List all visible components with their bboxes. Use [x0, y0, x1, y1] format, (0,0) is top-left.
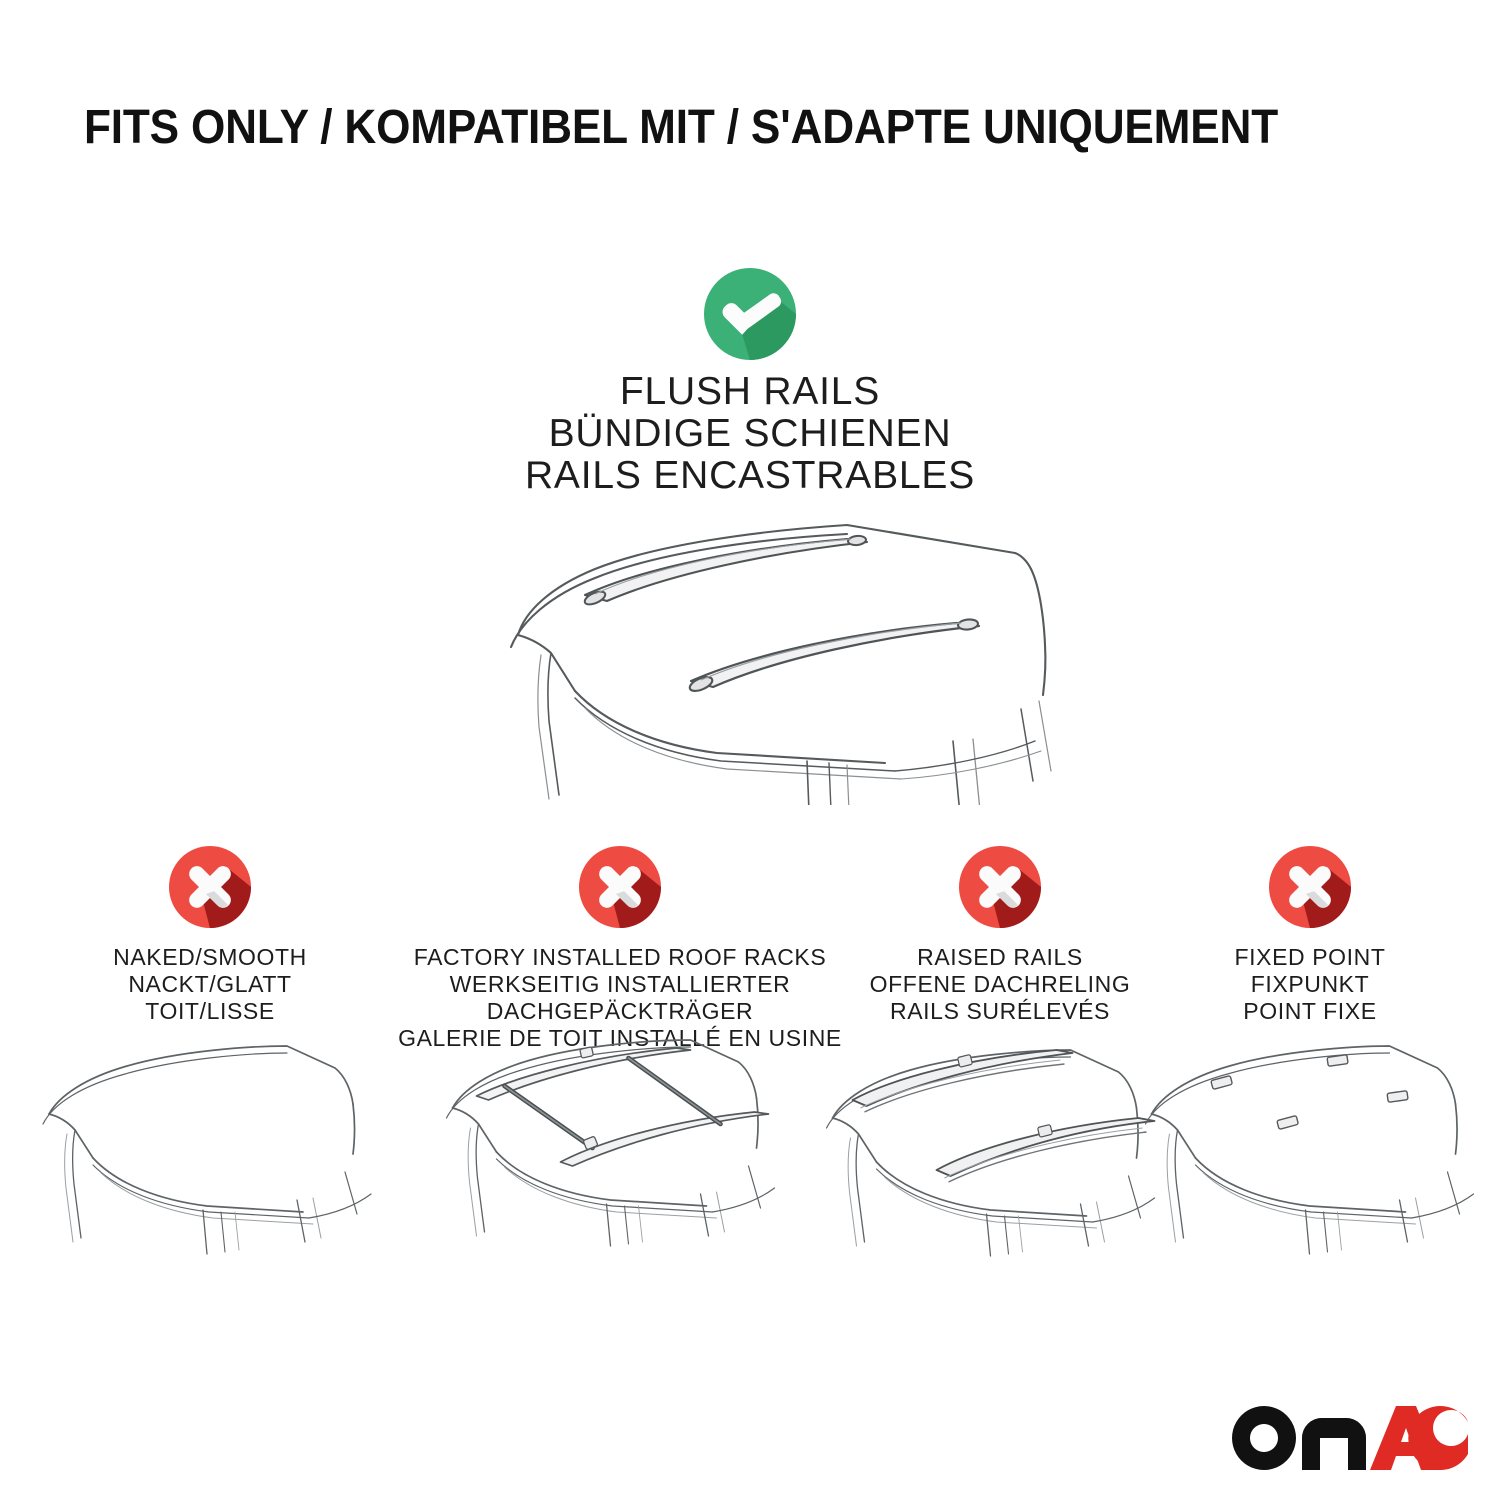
option-label-line-en: RAISED RAILS — [855, 944, 1145, 971]
compatible-option: FLUSH RAILS BÜNDIGE SCHIENEN RAILS ENCAS… — [250, 268, 1250, 497]
option-label-line-de: OFFENE DACHRELING — [855, 971, 1145, 998]
flush-rails-roof-diagram — [455, 495, 1055, 805]
flush-rail-near — [688, 618, 979, 693]
factory-roof-rack-diagram — [433, 1032, 808, 1247]
option-label: NAKED/SMOOTH NACKT/GLATT TOIT/LISSE — [40, 944, 380, 1025]
compatible-heading-line-fr: RAILS ENCASTRABLES — [250, 455, 1250, 497]
option-label-line-en: FACTORY INSTALLED ROOF RACKS — [390, 944, 850, 971]
option-label-line-fr: TOIT/LISSE — [40, 998, 380, 1025]
option-label: FIXED POINT FIXPUNKT POINT FIXE — [1160, 944, 1460, 1025]
fixed-point-roof-diagram — [1138, 1042, 1483, 1257]
raised-rail-far — [853, 1050, 1073, 1112]
incompatible-option-raised-rails: RAISED RAILS OFFENE DACHRELING RAILS SUR… — [855, 846, 1145, 1025]
x-circle-icon — [959, 846, 1041, 928]
compatible-heading-line-de: BÜNDIGE SCHIENEN — [250, 413, 1250, 455]
option-label-line-en: FIXED POINT — [1160, 944, 1460, 971]
raised-rail-near — [937, 1118, 1155, 1182]
option-label-line-de-2: DACHGEPÄCKTRÄGER — [390, 998, 850, 1025]
compatible-heading: FLUSH RAILS BÜNDIGE SCHIENEN RAILS ENCAS… — [250, 371, 1250, 497]
option-label-line-de: NACKT/GLATT — [40, 971, 380, 998]
cross-bars — [505, 1058, 721, 1148]
compatible-heading-line-en: FLUSH RAILS — [250, 371, 1250, 413]
incompatible-option-fixed-point: FIXED POINT FIXPUNKT POINT FIXE — [1160, 846, 1460, 1025]
longitudinal-rails — [477, 1048, 769, 1166]
page-title: FITS ONLY / KOMPATIBEL MIT / S'ADAPTE UN… — [84, 104, 1317, 152]
x-circle-icon — [579, 846, 661, 928]
x-circle-icon — [1269, 846, 1351, 928]
omac-logo — [1230, 1398, 1470, 1478]
incompatible-options-row: NAKED/SMOOTH NACKT/GLATT TOIT/LISSE — [0, 846, 1500, 1466]
naked-roof-diagram — [35, 1042, 385, 1257]
incompatible-option-naked-smooth: NAKED/SMOOTH NACKT/GLATT TOIT/LISSE — [40, 846, 380, 1025]
option-label-line-fr: POINT FIXE — [1160, 998, 1460, 1025]
option-label-line-de-1: WERKSEITIG INSTALLIERTER — [390, 971, 850, 998]
logo-letter-o — [1232, 1406, 1296, 1470]
check-circle-icon — [704, 268, 796, 360]
option-label-line-en: NAKED/SMOOTH — [40, 944, 380, 971]
option-label: RAISED RAILS OFFENE DACHRELING RAILS SUR… — [855, 944, 1145, 1025]
option-label-line-de: FIXPUNKT — [1160, 971, 1460, 998]
compatibility-infographic: FITS ONLY / KOMPATIBEL MIT / S'ADAPTE UN… — [0, 0, 1500, 1500]
option-label-line-fr: RAILS SURÉLEVÉS — [855, 998, 1145, 1025]
incompatible-option-factory-racks: FACTORY INSTALLED ROOF RACKS WERKSEITIG … — [390, 846, 850, 1052]
fixed-point-covers — [1211, 1055, 1408, 1130]
x-circle-icon — [169, 846, 251, 928]
raised-rails-roof-diagram — [813, 1042, 1188, 1257]
